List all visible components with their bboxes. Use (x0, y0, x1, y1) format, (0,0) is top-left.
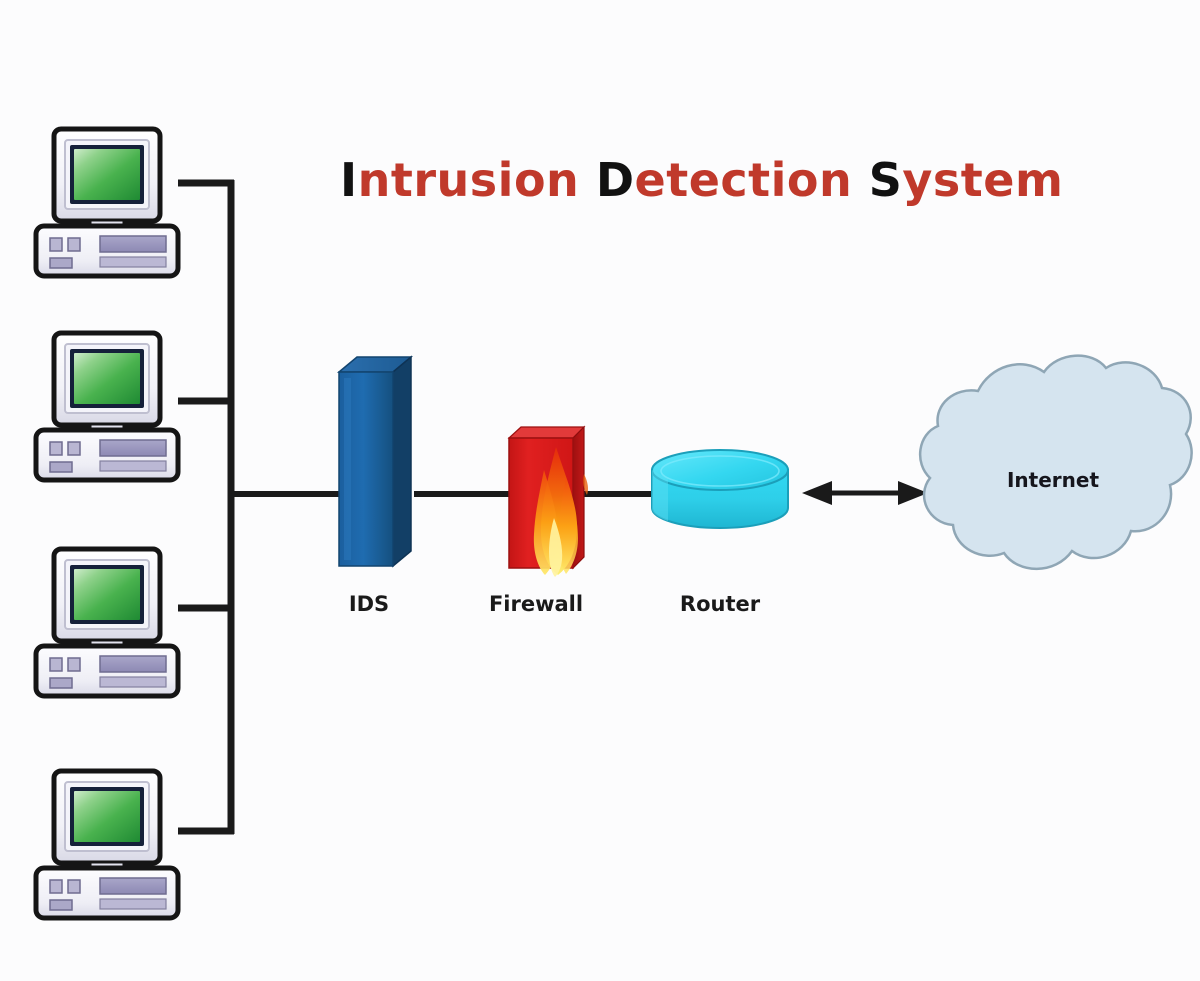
workstation-4[interactable] (36, 771, 178, 918)
title-word-1-rest: ntrusion (358, 153, 580, 207)
title-word-2-rest: etection (635, 153, 853, 207)
network-diagram: Intrusion Detection System (0, 0, 1200, 981)
internet-label: Internet (1007, 468, 1099, 492)
workstation-3[interactable] (36, 549, 178, 696)
firewall-node[interactable] (509, 427, 588, 577)
ids-node[interactable] (339, 357, 411, 566)
page-title: Intrusion Detection System (340, 153, 1063, 207)
internet-cloud-node[interactable] (920, 356, 1192, 569)
title-word-3-rest: ystem (902, 153, 1063, 207)
router-label: Router (680, 592, 761, 616)
workstation-2[interactable] (36, 333, 178, 480)
title-word-3-initial: S (869, 153, 903, 207)
title-word-2-initial: D (596, 153, 635, 207)
router-to-internet-link (802, 481, 928, 505)
diagram-canvas: Intrusion Detection System (0, 0, 1200, 981)
firewall-label: Firewall (489, 592, 583, 616)
workstation-1[interactable] (36, 129, 178, 276)
router-node[interactable] (652, 450, 788, 528)
title-word-1-initial: I (340, 153, 358, 207)
ids-label: IDS (349, 592, 389, 616)
